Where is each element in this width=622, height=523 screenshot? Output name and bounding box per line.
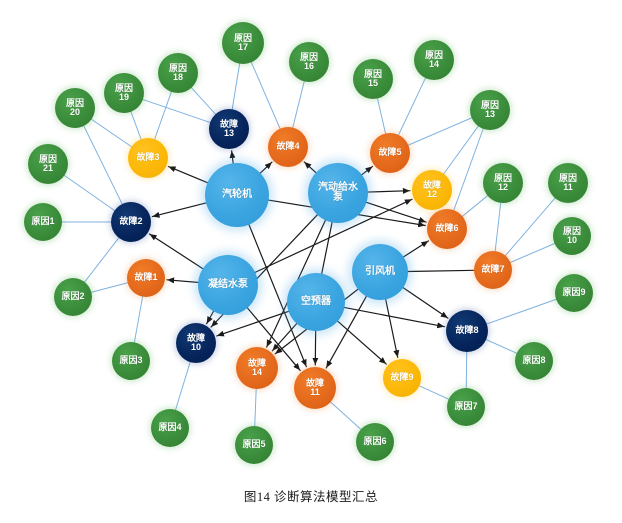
graph-node-label: 原因7 (454, 402, 477, 411)
graph-node-label: 空预器 (301, 297, 331, 307)
graph-node-label: 原因 11 (559, 174, 577, 192)
figure-caption: 图14 诊断算法模型汇总 (0, 486, 622, 505)
graph-node-kongyuqi[interactable]: 空预器 (287, 273, 345, 331)
graph-node-label: 故障 12 (423, 181, 441, 199)
graph-node-c9[interactable]: 原因9 (555, 274, 593, 312)
graph-node-label: 凝结水泵 (208, 280, 248, 290)
graph-node-label: 原因2 (61, 292, 84, 301)
graph-node-qidongjsb[interactable]: 汽动给水 泵 (308, 163, 368, 223)
graph-node-c18[interactable]: 原因 18 (158, 53, 198, 93)
graph-node-label: 故障8 (455, 326, 478, 335)
graph-node-c12[interactable]: 原因 12 (483, 163, 523, 203)
graph-node-label: 原因 16 (300, 53, 318, 71)
graph-node-g7[interactable]: 故障7 (474, 251, 512, 289)
graph-node-g13[interactable]: 故障 13 (209, 109, 249, 149)
graph-node-label: 故障1 (134, 273, 157, 282)
graph-node-c14[interactable]: 原因 14 (414, 40, 454, 80)
graph-node-label: 原因 19 (115, 84, 133, 102)
graph-node-label: 故障4 (276, 142, 299, 151)
graph-node-g6[interactable]: 故障6 (427, 209, 467, 249)
graph-node-c16[interactable]: 原因 16 (289, 42, 329, 82)
graph-node-c4[interactable]: 原因4 (151, 409, 189, 447)
graph-node-g9[interactable]: 故障9 (383, 359, 421, 397)
graph-node-g8[interactable]: 故障8 (446, 310, 488, 352)
graph-node-label: 汽轮机 (222, 190, 252, 200)
graph-node-label: 引风机 (365, 267, 395, 277)
graph-node-label: 原因 12 (494, 174, 512, 192)
graph-node-g3[interactable]: 故障3 (128, 138, 168, 178)
graph-node-c19[interactable]: 原因 19 (104, 73, 144, 113)
graph-node-g2[interactable]: 故障2 (111, 202, 151, 242)
graph-node-c20[interactable]: 原因 20 (55, 88, 95, 128)
graph-node-label: 故障 11 (306, 379, 324, 397)
graph-node-label: 故障9 (390, 373, 413, 382)
graph-node-label: 原因 13 (481, 101, 499, 119)
graph-node-label: 原因 10 (563, 227, 581, 245)
graph-node-label: 原因6 (363, 437, 386, 446)
graph-node-g5[interactable]: 故障5 (370, 133, 410, 173)
graph-node-g1[interactable]: 故障1 (127, 259, 165, 297)
graph-node-g11[interactable]: 故障 11 (294, 367, 336, 409)
graph-node-label: 原因4 (158, 423, 181, 432)
graph-node-c21[interactable]: 原因 21 (28, 144, 68, 184)
graph-node-label: 故障2 (119, 217, 142, 226)
graph-node-label: 故障 13 (220, 120, 238, 138)
graph-node-ningjiesb[interactable]: 凝结水泵 (198, 255, 258, 315)
graph-node-label: 原因5 (242, 440, 265, 449)
graph-node-label: 原因 20 (66, 99, 84, 117)
graph-node-c6[interactable]: 原因6 (356, 423, 394, 461)
graph-node-g12[interactable]: 故障 12 (412, 170, 452, 210)
graph-node-g10[interactable]: 故障 10 (176, 323, 216, 363)
graph-node-c3[interactable]: 原因3 (112, 342, 150, 380)
graph-node-c7[interactable]: 原因7 (447, 388, 485, 426)
graph-node-label: 原因 14 (425, 51, 443, 69)
graph-node-label: 原因 15 (364, 70, 382, 88)
graph-node-c11[interactable]: 原因 11 (548, 163, 588, 203)
graph-node-yinfengji[interactable]: 引风机 (352, 244, 408, 300)
graph-node-label: 原因1 (31, 217, 54, 226)
graph-node-g14[interactable]: 故障 14 (236, 347, 278, 389)
graph-node-label: 故障 14 (248, 359, 266, 377)
graph-node-label: 原因 18 (169, 64, 187, 82)
graph-node-c13[interactable]: 原因 13 (470, 90, 510, 130)
graph-node-label: 原因9 (562, 288, 585, 297)
graph-node-c17[interactable]: 原因 17 (222, 22, 264, 64)
graph-node-label: 故障7 (481, 265, 504, 274)
graph-node-label: 原因8 (522, 356, 545, 365)
graph-node-label: 故障6 (435, 224, 458, 233)
graph-node-g4[interactable]: 故障4 (268, 127, 308, 167)
graph-node-c2[interactable]: 原因2 (54, 278, 92, 316)
graph-node-label: 原因 17 (234, 34, 252, 52)
node-layer: 汽轮机汽动给水 泵凝结水泵空预器引风机故障1故障2故障3故障4故障5故障6故障7… (0, 0, 622, 480)
graph-node-c5[interactable]: 原因5 (235, 426, 273, 464)
graph-node-label: 原因 21 (39, 155, 57, 173)
graph-node-label: 原因3 (119, 356, 142, 365)
graph-node-label: 故障3 (136, 153, 159, 162)
graph-node-label: 故障 10 (187, 334, 205, 352)
graph-node-label: 汽动给水 泵 (318, 183, 358, 203)
graph-node-qilunji[interactable]: 汽轮机 (205, 163, 269, 227)
graph-node-c1[interactable]: 原因1 (24, 203, 62, 241)
graph-node-c10[interactable]: 原因 10 (553, 217, 591, 255)
figure-container: 汽轮机汽动给水 泵凝结水泵空预器引风机故障1故障2故障3故障4故障5故障6故障7… (0, 0, 622, 523)
graph-node-c8[interactable]: 原因8 (515, 342, 553, 380)
graph-node-label: 故障5 (378, 148, 401, 157)
graph-node-c15[interactable]: 原因 15 (353, 59, 393, 99)
